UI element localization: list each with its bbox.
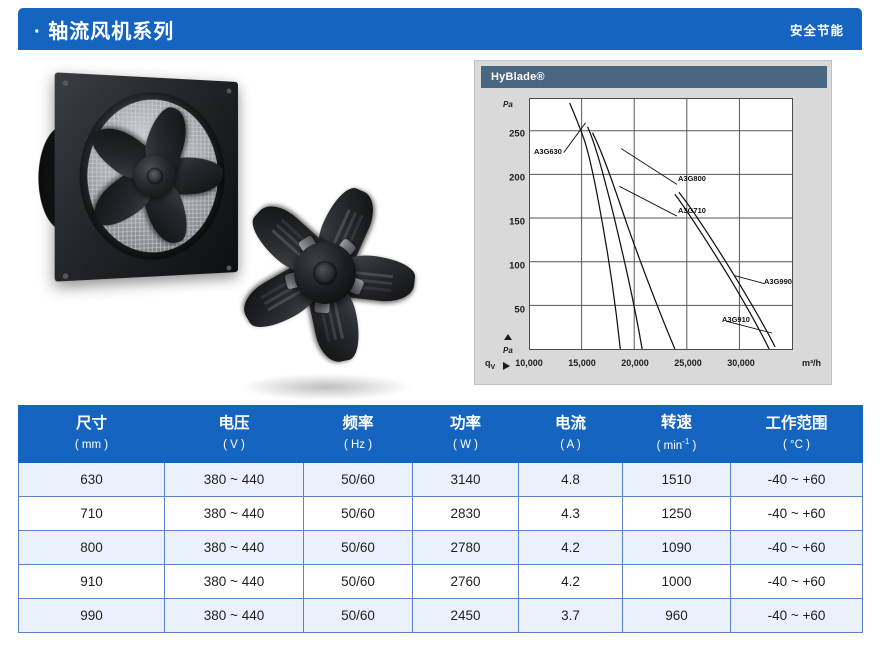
table-body: 630 380 ~ 440 50/60 3140 4.8 1510 -40 ~ … — [19, 463, 863, 633]
cell-frequency: 50/60 — [304, 463, 413, 497]
table-row: 710 380 ~ 440 50/60 2830 4.3 1250 -40 ~ … — [19, 497, 863, 531]
chart-title: HyBlade® — [491, 71, 545, 83]
column-header-current: 电流 ( A ) — [519, 406, 623, 463]
cell-operating-range: -40 ~ +60 — [731, 463, 863, 497]
y-tick-label: 150 — [509, 217, 525, 228]
unit-min-inverse: ( min-1 ) — [625, 438, 728, 452]
cell-size: 800 — [19, 531, 165, 565]
header-tagline: 安全节能 — [790, 20, 844, 39]
curve-label-a3g800: A3G800 — [678, 174, 706, 183]
curve-label-a3g910: A3G910 — [722, 315, 750, 324]
cell-frequency: 50/60 — [304, 565, 413, 599]
specification-table: 尺寸 ( mm ) 电压 ( V ) 频率 ( Hz ) 功率 ( W ) 电流… — [18, 405, 863, 633]
performance-chart-panel: HyBlade® Pa 250 200 150 100 50 Pa — [474, 60, 832, 385]
table-row: 630 380 ~ 440 50/60 3140 4.8 1510 -40 ~ … — [19, 463, 863, 497]
cell-frequency: 50/60 — [304, 599, 413, 633]
table-header-row: 尺寸 ( mm ) 电压 ( V ) 频率 ( Hz ) 功率 ( W ) 电流… — [19, 406, 863, 463]
chart-gridlines — [530, 99, 792, 349]
fan-hub — [134, 155, 175, 197]
axial-impeller-image — [220, 168, 430, 378]
x-axis-arrow-icon — [503, 362, 510, 370]
chart-y-axis: Pa 250 200 150 100 50 Pa — [487, 98, 527, 350]
cell-speed: 1250 — [623, 497, 731, 531]
cell-power: 3140 — [413, 463, 519, 497]
curve-a3g630 — [570, 103, 621, 349]
cell-size: 630 — [19, 463, 165, 497]
cell-size: 710 — [19, 497, 165, 531]
x-tick-label: 30,000 — [727, 358, 755, 368]
product-image-group — [20, 56, 460, 396]
cell-operating-range: -40 ~ +60 — [731, 497, 863, 531]
column-header-voltage: 电压 ( V ) — [165, 406, 304, 463]
x-axis-unit: m³/h — [802, 358, 821, 368]
cell-power: 2450 — [413, 599, 519, 633]
y-tick-label: 100 — [509, 261, 525, 272]
column-header-operating-range: 工作范围 ( °C ) — [731, 406, 863, 463]
column-header-frequency: 频率 ( Hz ) — [304, 406, 413, 463]
curve-label-a3g990: A3G990 — [764, 277, 792, 286]
cell-voltage: 380 ~ 440 — [165, 531, 304, 565]
square-plate-axial-fan-image — [55, 72, 238, 281]
column-header-size: 尺寸 ( mm ) — [19, 406, 165, 463]
cell-speed: 1000 — [623, 565, 731, 599]
column-header-power: 功率 ( W ) — [413, 406, 519, 463]
impeller-hub — [294, 242, 356, 304]
table-row: 800 380 ~ 440 50/60 2780 4.2 1090 -40 ~ … — [19, 531, 863, 565]
fan-bore — [80, 89, 225, 263]
x-tick-label: 15,000 — [568, 358, 596, 368]
x-tick-label: 25,000 — [674, 358, 702, 368]
cell-voltage: 380 ~ 440 — [165, 463, 304, 497]
table-row: 910 380 ~ 440 50/60 2760 4.2 1000 -40 ~ … — [19, 565, 863, 599]
chart-svg — [530, 99, 792, 349]
y-tick-label: 50 — [514, 305, 525, 316]
cell-frequency: 50/60 — [304, 531, 413, 565]
table-row: 990 380 ~ 440 50/60 2450 3.7 960 -40 ~ +… — [19, 599, 863, 633]
curve-a3g910 — [675, 194, 769, 349]
cell-speed: 960 — [623, 599, 731, 633]
cell-current: 4.2 — [519, 531, 623, 565]
curve-label-a3g630: A3G630 — [534, 147, 562, 156]
page-title: · 轴流风机系列 — [34, 15, 174, 44]
x-axis-symbol: qV — [485, 358, 495, 371]
y-tick-label: 200 — [509, 173, 525, 184]
x-tick-label: 20,000 — [621, 358, 649, 368]
cell-size: 910 — [19, 565, 165, 599]
x-tick-label: 10,000 — [515, 358, 543, 368]
photo-reflection — [242, 374, 410, 400]
curve-label-a3g710: A3G710 — [678, 206, 706, 215]
cell-current: 3.7 — [519, 599, 623, 633]
cell-frequency: 50/60 — [304, 497, 413, 531]
chart-leader-lines — [564, 123, 772, 333]
cell-current: 4.2 — [519, 565, 623, 599]
chart-titlebar: HyBlade® — [481, 66, 827, 88]
page-header: · 轴流风机系列 安全节能 — [18, 8, 862, 50]
cell-power: 2830 — [413, 497, 519, 531]
cell-current: 4.3 — [519, 497, 623, 531]
chart-x-axis: qV 10,000 15,000 20,000 25,000 30,000 m³… — [481, 356, 827, 374]
cell-operating-range: -40 ~ +60 — [731, 565, 863, 599]
y-axis-unit-top: Pa — [503, 100, 513, 109]
column-header-speed: 转速 ( min-1 ) — [623, 406, 731, 463]
chart-plot-area: A3G630 A3G800 A3G710 A3G990 A3G910 — [529, 98, 793, 350]
cell-current: 4.8 — [519, 463, 623, 497]
cell-power: 2780 — [413, 531, 519, 565]
cell-size: 990 — [19, 599, 165, 633]
cell-voltage: 380 ~ 440 — [165, 565, 304, 599]
y-tick-label: 250 — [509, 129, 525, 140]
cell-voltage: 380 ~ 440 — [165, 599, 304, 633]
cell-voltage: 380 ~ 440 — [165, 497, 304, 531]
cell-operating-range: -40 ~ +60 — [731, 599, 863, 633]
y-axis-unit-bottom: Pa — [503, 346, 513, 355]
cell-power: 2760 — [413, 565, 519, 599]
cell-operating-range: -40 ~ +60 — [731, 531, 863, 565]
y-axis-arrow-icon — [504, 334, 512, 340]
chart-plot-wrapper: Pa 250 200 150 100 50 Pa — [481, 94, 827, 380]
cell-speed: 1090 — [623, 531, 731, 565]
cell-speed: 1510 — [623, 463, 731, 497]
chart-curves — [570, 103, 775, 349]
